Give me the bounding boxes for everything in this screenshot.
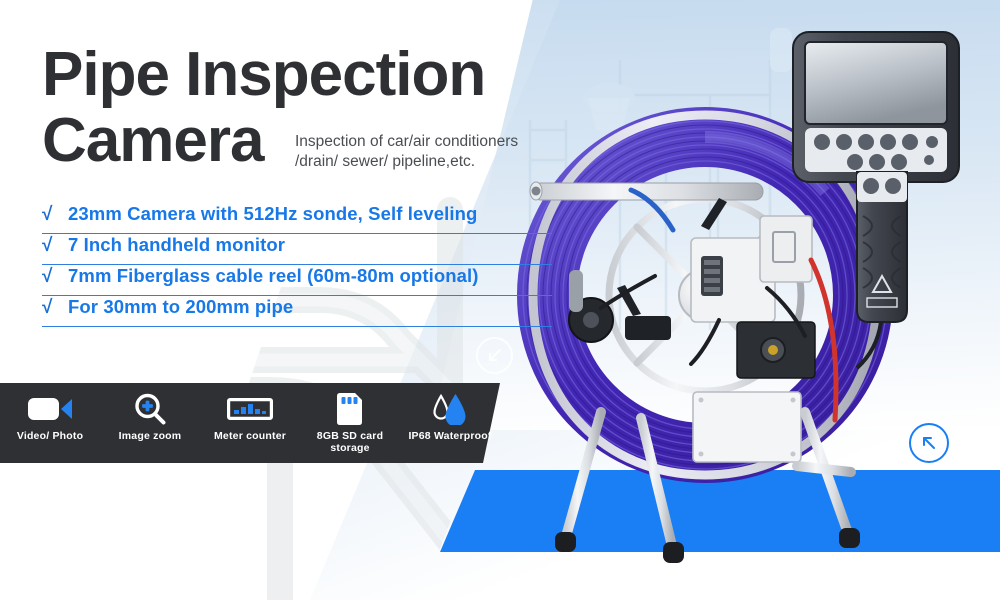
- feature-item: √ For 30mm to 200mm pipe: [42, 296, 552, 327]
- feature-label: For 30mm to 200mm pipe: [68, 296, 293, 318]
- water-drop-icon: [432, 392, 468, 426]
- icon-item-waterproof: IP68 Waterproof: [400, 383, 500, 463]
- icon-item-meter-counter: Meter counter: [200, 383, 300, 463]
- icon-label: Image zoom: [119, 431, 182, 443]
- feature-icon-row: Video/ Photo Image zoom: [0, 383, 500, 463]
- scroll-up-badge[interactable]: [909, 423, 949, 463]
- icon-label: Video/ Photo: [17, 431, 83, 443]
- arrow-down-left-icon: [485, 346, 504, 365]
- subtitle-line2: /drain/ sewer/ pipeline,etc.: [295, 152, 560, 172]
- subtitle-block: Inspection of car/air conditioners /drai…: [295, 132, 560, 172]
- arrow-up-left-icon: [919, 433, 939, 453]
- feature-label: 23mm Camera with 512Hz sonde, Self level…: [68, 203, 477, 225]
- scroll-down-badge[interactable]: [476, 337, 513, 374]
- rubber-feet: [555, 528, 860, 563]
- icon-label: Meter counter: [214, 431, 286, 443]
- icon-item-video-photo: Video/ Photo: [0, 383, 100, 463]
- check-icon: √: [42, 297, 68, 319]
- product-banner: Pipe Inspection Camera Inspection of car…: [0, 0, 1000, 600]
- feature-label: 7mm Fiberglass cable reel (60m-80m optio…: [68, 265, 479, 287]
- feature-item: √ 23mm Camera with 512Hz sonde, Self lev…: [42, 203, 552, 234]
- icon-label: 8GB SD card storage: [300, 431, 400, 454]
- video-camera-icon: [28, 392, 72, 426]
- icon-item-sd-card: 8GB SD card storage: [300, 383, 400, 463]
- feature-list: √ 23mm Camera with 512Hz sonde, Self lev…: [42, 203, 552, 327]
- check-icon: √: [42, 266, 68, 288]
- page-title-line1: Pipe Inspection: [42, 42, 662, 108]
- feature-label: 7 Inch handheld monitor: [68, 234, 285, 256]
- subtitle-line1: Inspection of car/air conditioners: [295, 132, 560, 152]
- meter-counter-icon: [227, 392, 273, 426]
- feature-item: √ 7mm Fiberglass cable reel (60m-80m opt…: [42, 265, 552, 296]
- feature-item: √ 7 Inch handheld monitor: [42, 234, 552, 265]
- magnifier-plus-icon: [134, 392, 166, 426]
- check-icon: √: [42, 235, 68, 257]
- check-icon: √: [42, 204, 68, 226]
- icon-item-image-zoom: Image zoom: [100, 383, 200, 463]
- icon-label: IP68 Waterproof: [408, 431, 491, 443]
- sd-card-icon: [337, 392, 363, 426]
